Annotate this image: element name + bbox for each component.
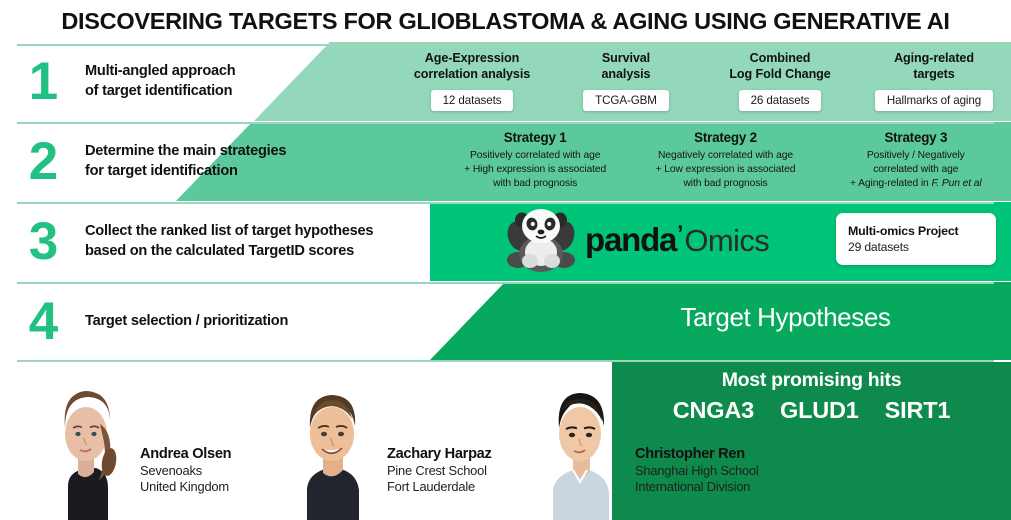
panda-icon: [505, 206, 577, 274]
step-2-text: Determine the main strategies for target…: [85, 142, 286, 181]
person-andrea-olsen: Andrea Olsen Sevenoaks United Kingdom: [38, 370, 231, 520]
analysis-col-age-expression: Age-Expression correlation analysis 12 d…: [395, 50, 549, 122]
strategy-3-line2: correlated with age: [850, 163, 982, 177]
pandaomics-wordmark: panda’Omics: [585, 221, 769, 259]
steps-column: 1 Multi-angled approach of target identi…: [0, 42, 400, 360]
analysis-col-4-head-line2: targets: [894, 66, 974, 82]
step-3-text: Collect the ranked list of target hypoth…: [85, 222, 373, 261]
strategy-3-line3-text: + Aging-related in: [850, 178, 931, 189]
brand-panda-text: panda: [585, 221, 676, 259]
step-2-number: 2: [0, 135, 85, 188]
analysis-col-2-chip[interactable]: TCGA-GBM: [583, 90, 669, 111]
step-3-line1: Collect the ranked list of target hypoth…: [85, 222, 373, 241]
analysis-col-2-head-line2: analysis: [602, 66, 651, 82]
strategy-2-line3: with bad prognosis: [656, 177, 796, 191]
analysis-col-2-heading: Survival analysis: [602, 50, 651, 83]
analysis-columns: Age-Expression correlation analysis 12 d…: [395, 50, 1011, 122]
person-zachary-harpaz: Zachary Harpaz Pine Crest School Fort La…: [285, 370, 492, 520]
analysis-col-survival: Survival analysis TCGA-GBM: [549, 50, 703, 122]
analysis-col-2-head-line1: Survival: [602, 50, 651, 66]
project-card[interactable]: Multi-omics Project 29 datasets: [836, 213, 996, 265]
analysis-col-1-heading: Age-Expression correlation analysis: [414, 50, 530, 83]
strategy-1-line2: + High expression is associated: [464, 163, 606, 177]
project-card-datasets: 29 datasets: [848, 240, 996, 254]
project-card-title: Multi-omics Project: [848, 224, 996, 238]
gene-hit-2: GLUD1: [780, 397, 859, 424]
person-christopher-ren: Christopher Ren Shanghai High School Int…: [533, 370, 759, 520]
strategy-3-line3: + Aging-related in F. Pun et al: [850, 177, 982, 191]
strategy-3: Strategy 3 Positively / Negatively corre…: [821, 130, 1011, 196]
person-2-info: Zachary Harpaz Pine Crest School Fort La…: [387, 445, 492, 520]
step-3: 3 Collect the ranked list of target hypo…: [0, 202, 400, 281]
step-4-line1: Target selection / prioritization: [85, 312, 288, 331]
strategy-columns: Strategy 1 Positively correlated with ag…: [440, 130, 1011, 196]
person-3-org2: International Division: [635, 479, 759, 496]
strategy-3-title: Strategy 3: [884, 130, 947, 145]
strategy-3-citation: F. Pun et al: [931, 178, 981, 189]
strategy-3-line1: Positively / Negatively: [850, 149, 982, 163]
person-3-info: Christopher Ren Shanghai High School Int…: [635, 445, 759, 520]
analysis-col-logfoldchange: Combined Log Fold Change 26 datasets: [703, 50, 857, 122]
strategy-2-line2: + Low expression is associated: [656, 163, 796, 177]
person-2-org1: Pine Crest School: [387, 463, 492, 480]
analysis-col-3-head-line2: Log Fold Change: [729, 66, 830, 82]
portrait-andrea-olsen: [38, 378, 130, 520]
gene-hit-3: SIRT1: [885, 397, 951, 424]
analysis-col-3-chip[interactable]: 26 datasets: [739, 90, 822, 111]
step-1-line1: Multi-angled approach: [85, 62, 235, 81]
person-1-name: Andrea Olsen: [140, 445, 231, 463]
strategy-1: Strategy 1 Positively correlated with ag…: [440, 130, 630, 196]
strategy-3-body: Positively / Negatively correlated with …: [850, 149, 982, 192]
person-1-info: Andrea Olsen Sevenoaks United Kingdom: [140, 445, 231, 520]
strategy-2-title: Strategy 2: [694, 130, 757, 145]
analysis-col-3-heading: Combined Log Fold Change: [729, 50, 830, 83]
analysis-col-aging-related: Aging-related targets Hallmarks of aging: [857, 50, 1011, 122]
strategy-1-line3: with bad prognosis: [464, 177, 606, 191]
strategy-2-body: Negatively correlated with age + Low exp…: [656, 149, 796, 192]
poster-title-bar: DISCOVERING TARGETS FOR GLIOBLASTOMA & A…: [0, 0, 1011, 42]
step-2-line2: for target identification: [85, 162, 286, 181]
brand-omics-text: Omics: [684, 223, 769, 259]
person-1-org2: United Kingdom: [140, 479, 231, 496]
poster-root: DISCOVERING TARGETS FOR GLIOBLASTOMA & A…: [0, 0, 1011, 520]
step-1-line2: of target identification: [85, 82, 235, 101]
pandaomics-row: panda’Omics: [505, 202, 769, 278]
strategy-2-line1: Negatively correlated with age: [656, 149, 796, 163]
target-hypotheses-label: Target Hypotheses: [560, 302, 1011, 333]
person-2-name: Zachary Harpaz: [387, 445, 492, 463]
analysis-col-3-head-line1: Combined: [729, 50, 830, 66]
step-3-line2: based on the calculated TargetID scores: [85, 242, 373, 261]
step-4-text: Target selection / prioritization: [85, 312, 288, 331]
person-2-org2: Fort Lauderdale: [387, 479, 492, 496]
step-2: 2 Determine the main strategies for targ…: [0, 122, 400, 201]
page-title: DISCOVERING TARGETS FOR GLIOBLASTOMA & A…: [61, 8, 949, 35]
analysis-col-1-head-line1: Age-Expression: [414, 50, 530, 66]
strategy-1-line1: Positively correlated with age: [464, 149, 606, 163]
step-1: 1 Multi-angled approach of target identi…: [0, 42, 400, 121]
step-4-number: 4: [0, 295, 85, 348]
step-1-text: Multi-angled approach of target identifi…: [85, 62, 235, 101]
person-3-name: Christopher Ren: [635, 445, 759, 463]
analysis-col-4-chip[interactable]: Hallmarks of aging: [875, 90, 993, 111]
analysis-col-1-chip[interactable]: 12 datasets: [431, 90, 514, 111]
step-1-number: 1: [0, 55, 85, 108]
brand-apostrophe: ’: [677, 221, 683, 247]
strategy-1-title: Strategy 1: [504, 130, 567, 145]
step-4: 4 Target selection / prioritization: [0, 282, 400, 361]
analysis-col-1-head-line2: correlation analysis: [414, 66, 530, 82]
person-3-org1: Shanghai High School: [635, 463, 759, 480]
analysis-col-4-head-line1: Aging-related: [894, 50, 974, 66]
step-2-line1: Determine the main strategies: [85, 142, 286, 161]
person-1-org1: Sevenoaks: [140, 463, 231, 480]
strategy-2: Strategy 2 Negatively correlated with ag…: [630, 130, 820, 196]
strategy-1-body: Positively correlated with age + High ex…: [464, 149, 606, 192]
portrait-christopher-ren: [533, 378, 625, 520]
analysis-col-4-heading: Aging-related targets: [894, 50, 974, 83]
portrait-zachary-harpaz: [285, 378, 377, 520]
step-3-number: 3: [0, 215, 85, 268]
